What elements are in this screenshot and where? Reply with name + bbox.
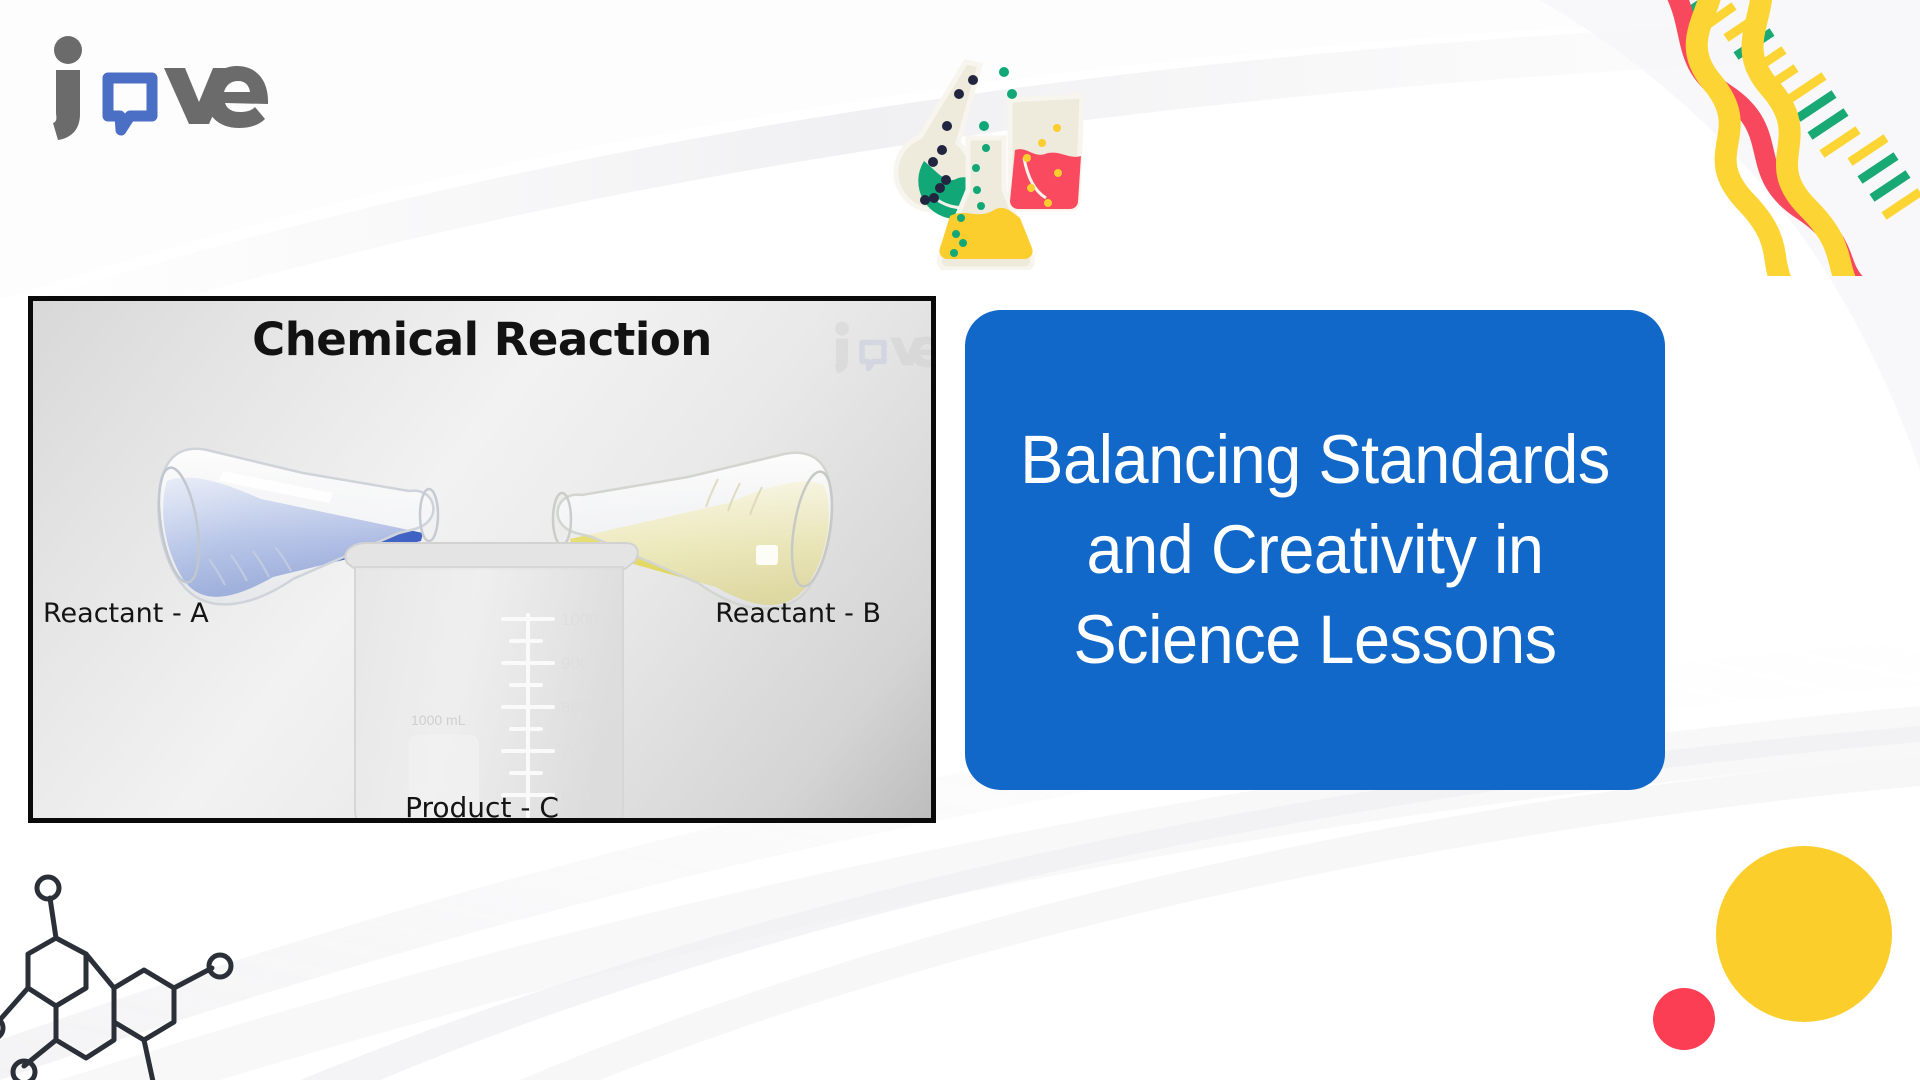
dna-helix-icon [1628,0,1920,276]
jove-logo-letters-ve [164,66,268,128]
svg-text:800: 800 [561,698,589,717]
jove-logo-letter-j [53,36,82,140]
jove-logo[interactable] [42,30,282,140]
chemical-reaction-panel: Chemical Reaction [28,296,936,823]
svg-text:900: 900 [561,654,589,673]
product-c-label: Product - C [33,791,931,823]
svg-text:700: 700 [561,742,589,761]
molecular-structure-icon [0,842,254,1080]
lab-glassware-icon [846,38,1106,270]
reactant-a-label: Reactant - A [43,598,209,629]
jove-watermark-icon [829,315,936,377]
slide-canvas: Chemical Reaction [0,0,1920,1080]
title-text: Balancing Standards and Creativity in Sc… [1010,415,1619,684]
beaker-product-c: 1000 900 800 700 600 1000 mL [333,529,643,823]
panel-title: Chemical Reaction [33,313,931,366]
title-card: Balancing Standards and Creativity in Sc… [965,310,1665,790]
beaker-volume-text: 1000 mL [411,712,466,728]
reactant-b-label: Reactant - B [715,598,881,629]
red-circle-decoration [1653,988,1715,1050]
jove-logo-speech-bubble [108,78,152,130]
beaker-icon [1010,96,1082,209]
svg-text:1000: 1000 [561,610,599,629]
yellow-circle-decoration [1716,846,1892,1022]
